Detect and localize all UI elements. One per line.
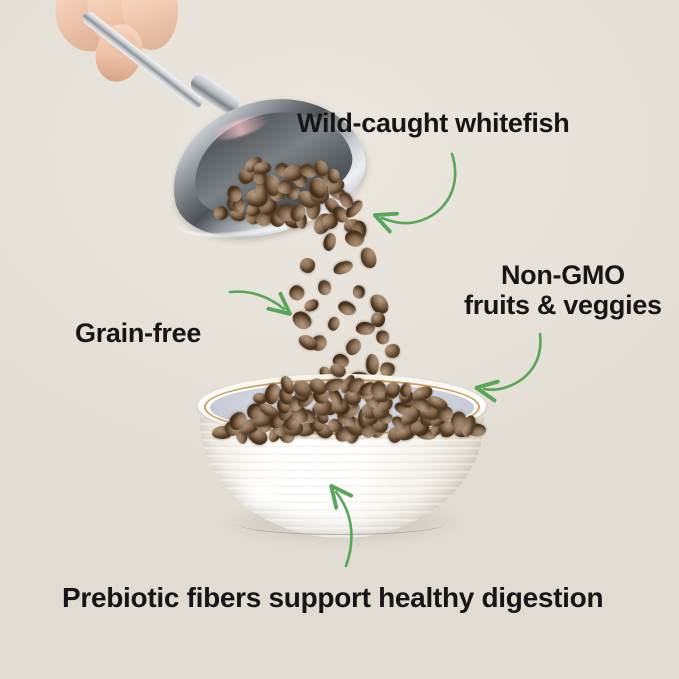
- callout-non-gmo: Non-GMO fruits & veggies: [464, 260, 662, 320]
- callout-prebiotic: Prebiotic fibers support healthy digesti…: [62, 582, 603, 613]
- callout-wild-caught: Wild-caught whitefish: [297, 108, 569, 138]
- callout-grain-free: Grain-free: [75, 318, 201, 348]
- arrow-non-gmo: [484, 334, 540, 390]
- arrow-prebiotic: [336, 492, 351, 566]
- product-feature-image: Wild-caught whitefish Non-GMO fruits & v…: [0, 0, 679, 679]
- arrow-grain-free: [230, 292, 284, 309]
- arrow-wild-caught: [382, 154, 455, 223]
